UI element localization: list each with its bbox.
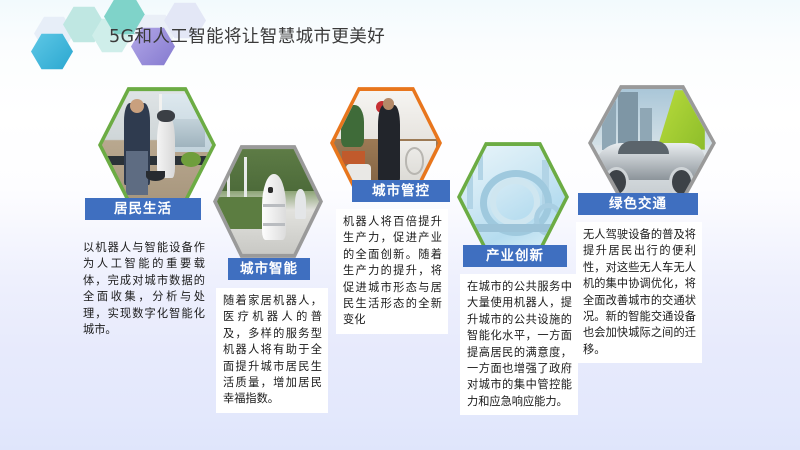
concept-car-city-photo: [592, 88, 712, 198]
card-city-intelligence-photo-frame: [217, 148, 319, 255]
card-industry-innovation-photo-frame: [461, 145, 565, 249]
card-city-intelligence-label: 城市智能: [228, 258, 310, 280]
card-green-transport-photo-frame: [592, 88, 712, 198]
card-city-intelligence-body: 随着家居机器人，医疗机器人的普及，多样的服务型机器人将有助于全面提升城市居民生活…: [216, 288, 328, 413]
card-industry-innovation-body: 在城市的公共服务中大量使用机器人，提升城市的公共设施的智能化水平，一方面提高居民…: [460, 274, 578, 415]
page-title: 5G和人工智能将让智慧城市更美好: [109, 23, 385, 48]
card-green-transport-body: 无人驾驶设备的普及将提升居民出行的便利性，对这些无人车无人机的集中协调优化，将全…: [576, 222, 702, 363]
card-city-intelligence-hexagon: [213, 144, 323, 259]
card-city-management-body: 机器人将百倍提升生产力，促进产业的全面创新。随着生产力的提升，将促进城市形态与居…: [336, 209, 448, 334]
card-residents-life-photo-frame: [102, 90, 212, 200]
card-green-transport-hexagon: [588, 84, 716, 202]
card-industry-innovation-label: 产业创新: [463, 245, 567, 267]
card-city-management-label: 城市管控: [352, 180, 450, 202]
card-industry-innovation-hexagon: [457, 141, 569, 253]
card-residents-life-body: 以机器人与智能设备作为人工智能的重要载体，完成对城市数据的全面收集，分析与处理，…: [76, 235, 211, 343]
card-residents-life-label: 居民生活: [85, 198, 201, 220]
card-green-transport-label: 绿色交通: [578, 193, 698, 215]
slide-canvas: 5G和人工智能将让智慧城市更美好 居民生活 以机器人与智能设备作为人工智能的重要…: [0, 0, 800, 450]
industrial-machinery-photo: [461, 145, 565, 249]
patrol-robot-photo: [217, 148, 319, 255]
kitchen-service-robot-photo: [102, 90, 212, 200]
card-residents-life-hexagon: [98, 86, 216, 204]
